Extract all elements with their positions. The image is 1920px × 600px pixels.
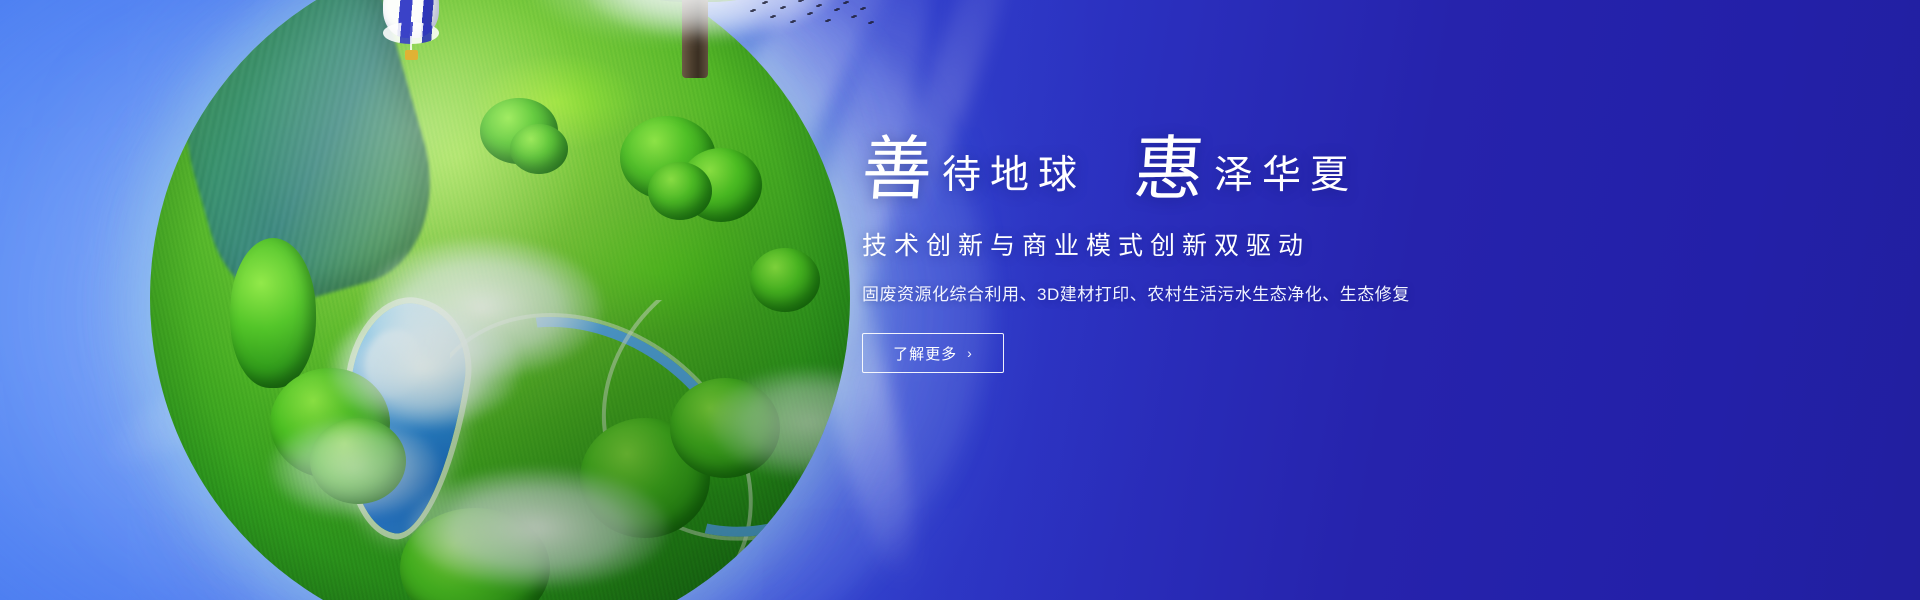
hero-subtitle: 技术创新与商业模式创新双驱动: [862, 226, 1562, 262]
balloon-basket: [405, 50, 418, 60]
hero-description: 固废资源化综合利用、3D建材打印、农村生活污水生态净化、生态修复: [862, 280, 1562, 305]
learn-more-button[interactable]: 了解更多 ›: [862, 333, 1004, 373]
headline-part1-large: 善: [860, 134, 936, 204]
hero-banner: 善 待地球 惠 泽华夏 技术创新与商业模式创新双驱动 固废资源化综合利用、3D建…: [0, 0, 1920, 600]
headline-part2-large: 惠: [1132, 134, 1208, 204]
globe-sphere: [150, 0, 850, 600]
chevron-right-icon: ›: [967, 346, 973, 360]
globe-shading: [150, 0, 850, 600]
hot-air-balloon-icon: [383, 0, 439, 64]
headline-part2-small: 泽华夏: [1205, 156, 1358, 204]
bird-flock-icon: [746, 0, 874, 38]
page-title: 善 待地球 惠 泽华夏: [862, 134, 1562, 204]
hero-copy-block: 善 待地球 惠 泽华夏 技术创新与商业模式创新双驱动 固废资源化综合利用、3D建…: [862, 134, 1562, 373]
green-globe-illustration: [150, 0, 850, 600]
learn-more-label: 了解更多: [893, 343, 957, 364]
balloon-envelope: [383, 0, 439, 38]
headline-part1-small: 待地球: [933, 156, 1086, 204]
